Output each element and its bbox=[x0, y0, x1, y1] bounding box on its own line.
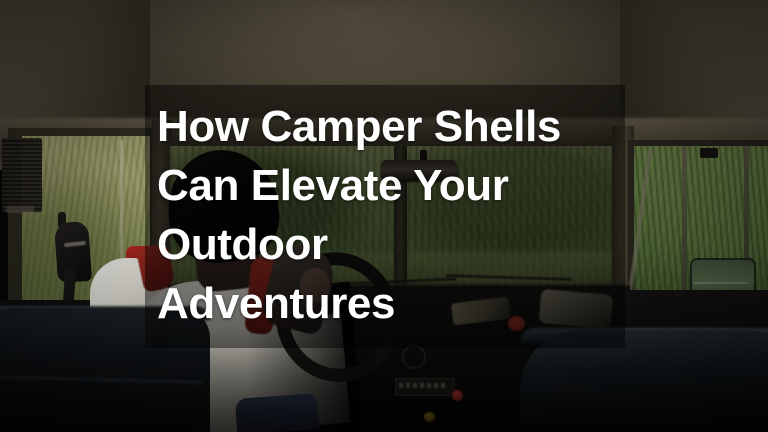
dashboard-badge bbox=[402, 345, 426, 369]
grille-label bbox=[6, 206, 34, 213]
speaker-grille bbox=[2, 138, 42, 212]
dashboard-amber-indicator bbox=[424, 412, 435, 422]
dashboard-plaque-text bbox=[399, 383, 447, 388]
video-title: How Camper Shells Can Elevate Your Outdo… bbox=[157, 97, 627, 333]
video-thumbnail: How Camper Shells Can Elevate Your Outdo… bbox=[0, 0, 768, 432]
right-window-clip bbox=[700, 148, 718, 158]
dashboard-red-indicator bbox=[452, 390, 463, 401]
driver-legs bbox=[235, 393, 319, 432]
side-mirror-highlight bbox=[694, 282, 748, 284]
